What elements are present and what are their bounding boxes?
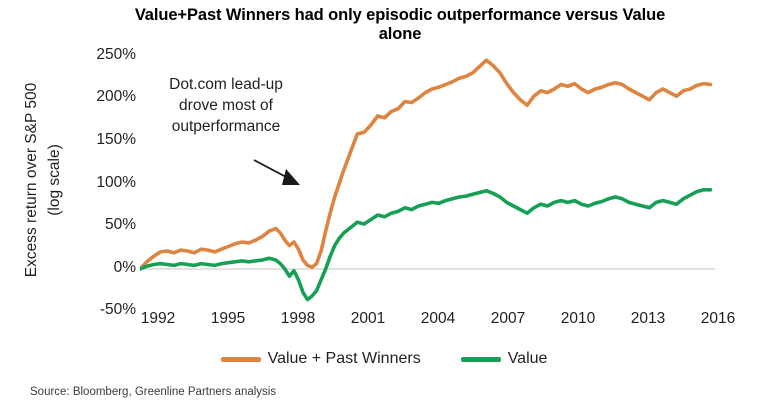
annotation-dotcom: Dot.com lead-up drove most of outperform…	[142, 74, 310, 137]
source-note: Source: Bloomberg, Greenline Partners an…	[30, 386, 276, 398]
series-line-value	[140, 190, 710, 300]
legend-label-value: Value	[508, 350, 548, 368]
y-axis-title-text-2: (log scale)	[46, 144, 64, 216]
legend-item-value-past-winners[interactable]: Value + Past Winners	[221, 350, 421, 368]
legend-swatch-orange-icon	[221, 357, 261, 362]
y-tick-label-50: 50%	[74, 217, 136, 232]
legend-swatch-green-icon	[461, 357, 501, 362]
y-tick-label-200: 200%	[74, 89, 136, 104]
chart-legend: Value + Past Winners Value	[0, 350, 768, 368]
annotation-line-1: Dot.com lead-up	[142, 74, 310, 95]
y-tick-label-0: 0%	[74, 260, 136, 275]
y-tick-label-150: 150%	[74, 132, 136, 147]
y-axis-title-text-1: Excess return over S&P 500	[23, 83, 41, 277]
y-tick-label-250: 250%	[74, 47, 136, 62]
annotation-arrow-icon	[248, 152, 308, 194]
y-axis-title-line-2: (log scale)	[45, 40, 65, 320]
y-tick-label-100: 100%	[74, 175, 136, 190]
y-tick-label-neg50: -50%	[74, 302, 136, 317]
annotation-line-2: drove most of	[142, 95, 310, 116]
legend-item-value[interactable]: Value	[461, 350, 548, 368]
chart-title-line-1: Value+Past Winners had only episodic out…	[135, 6, 561, 24]
chart-figure: Value+Past Winners had only episodic out…	[0, 0, 768, 419]
legend-label-value-past-winners: Value + Past Winners	[268, 350, 421, 368]
y-axis-title-line-1: Excess return over S&P 500	[22, 40, 42, 320]
chart-title: Value+Past Winners had only episodic out…	[120, 6, 680, 44]
annotation-line-3: outperformance	[142, 116, 310, 137]
